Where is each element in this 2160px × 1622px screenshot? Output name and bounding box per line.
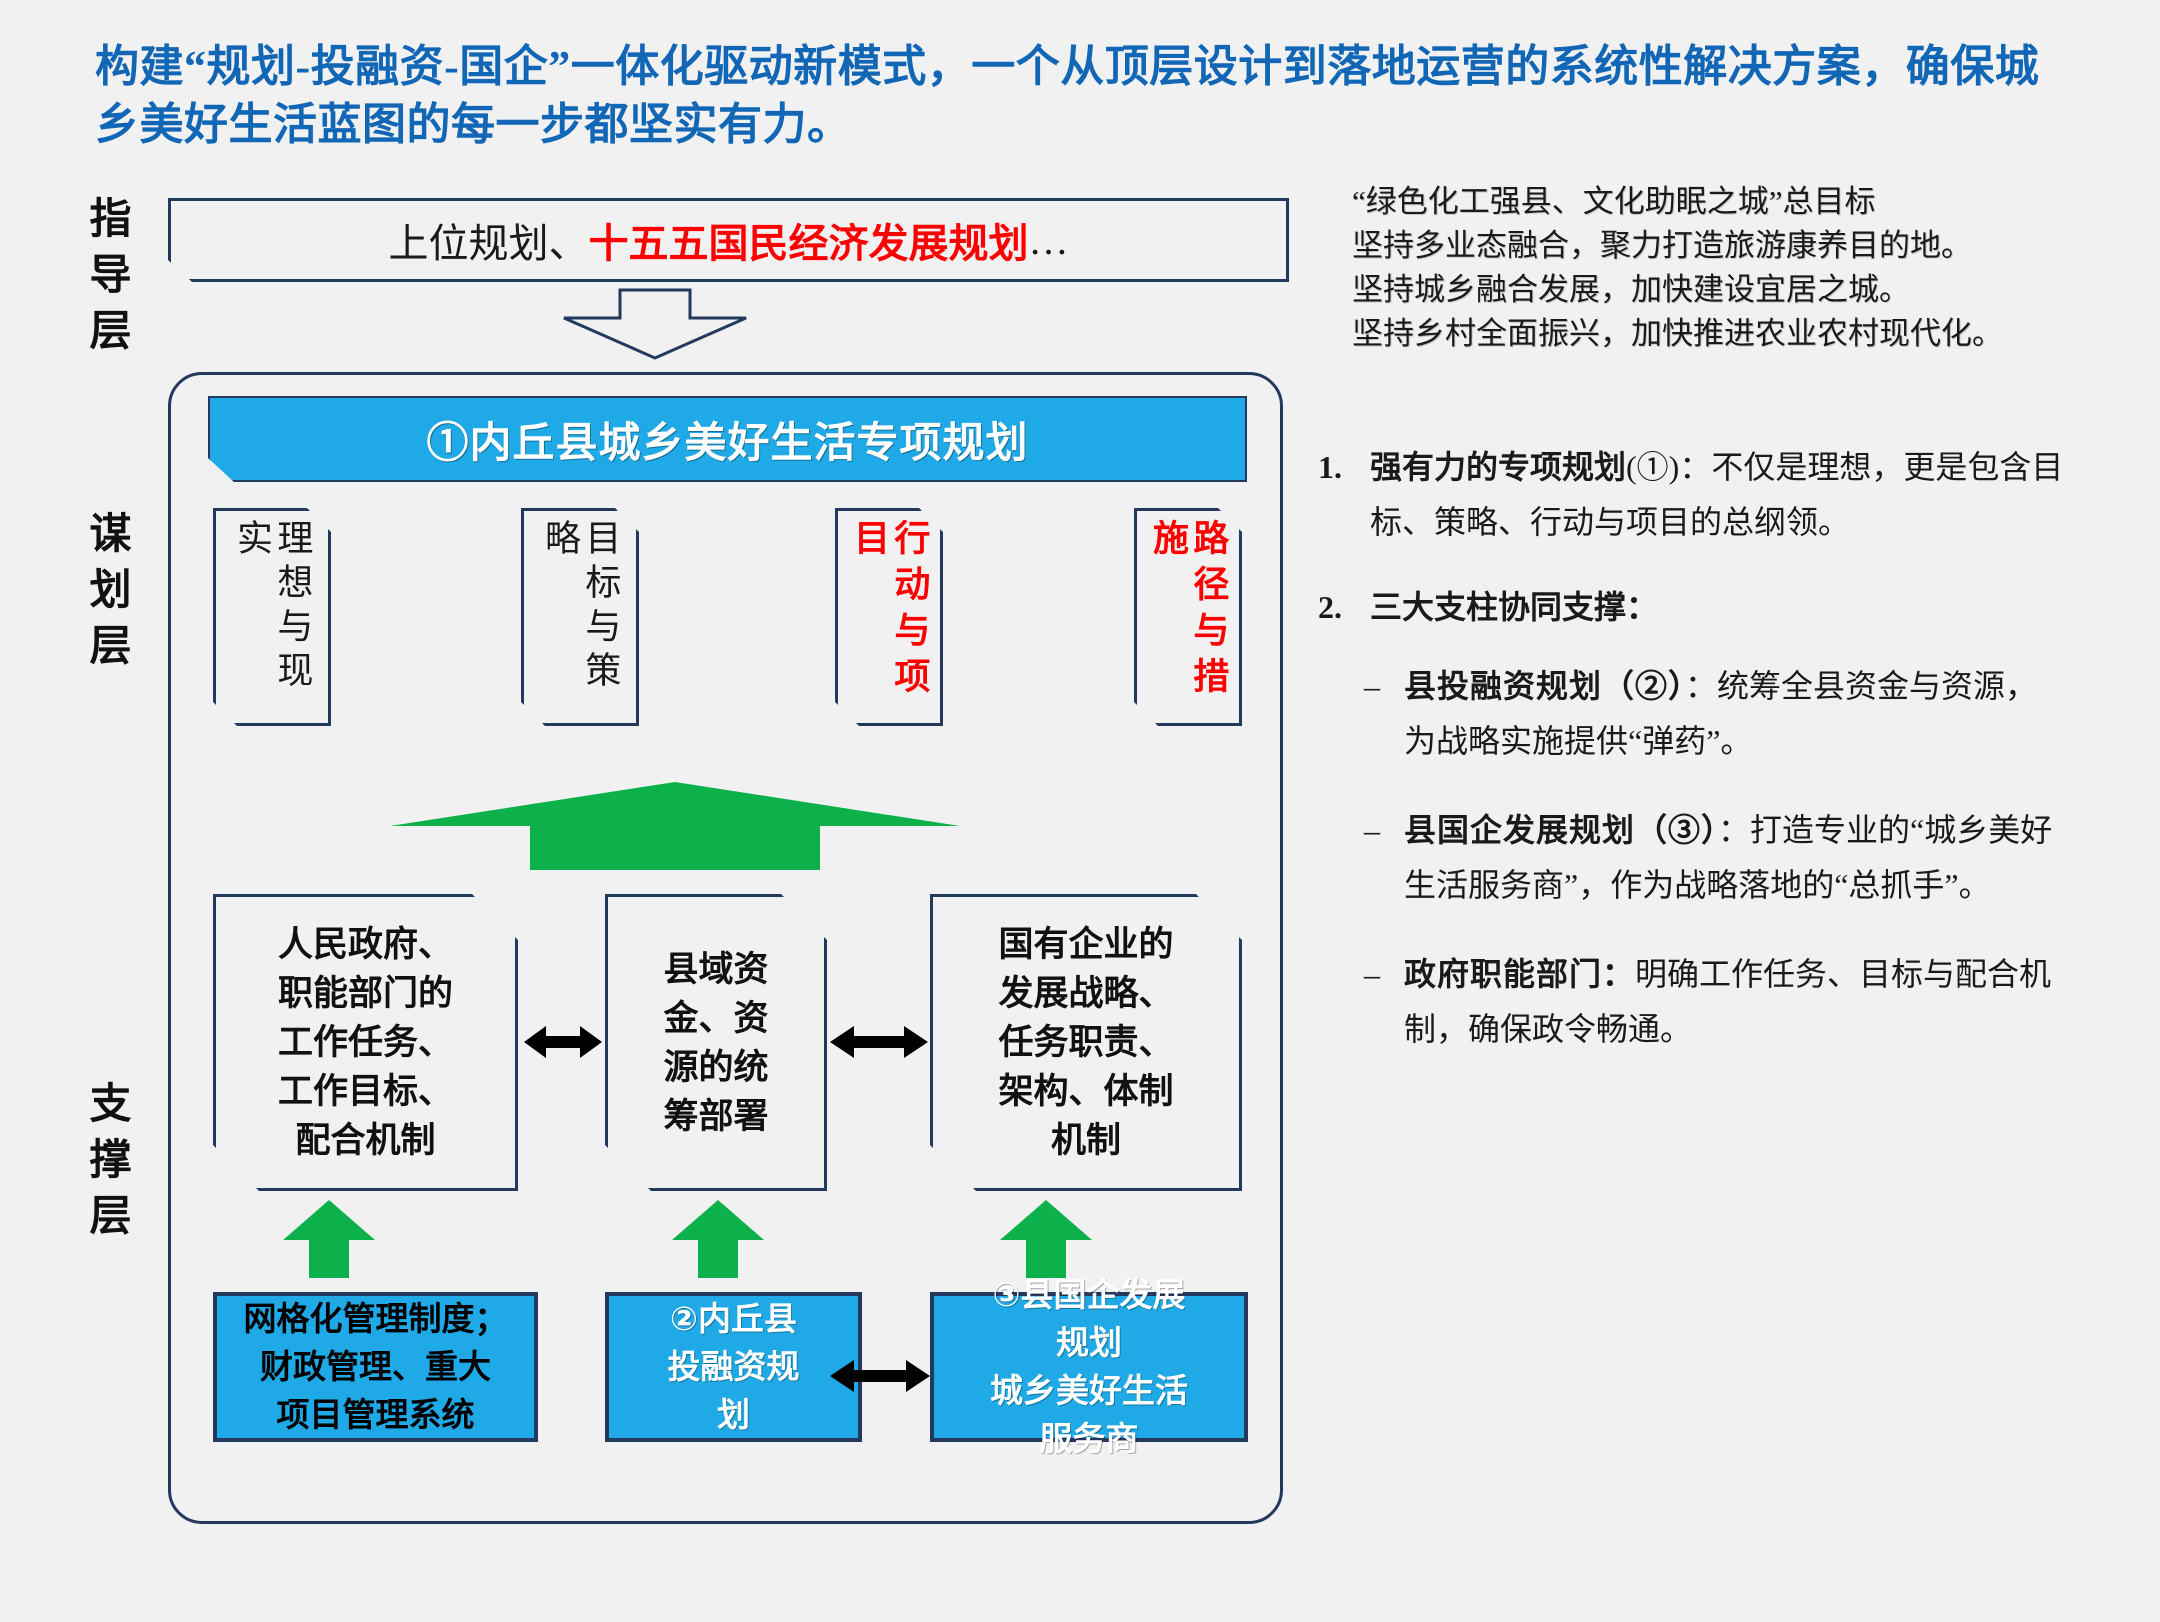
goal-line-0: “绿色化工强县、文化助眠之城”总目标 bbox=[1352, 180, 2092, 224]
bottom-box-soe-plan: ③县国企发展 规划 城乡美好生活 服务商 bbox=[930, 1292, 1248, 1442]
support-text-1: 县域资 金、资 源的统 筹部署 bbox=[663, 945, 768, 1141]
sub-note-dash-1: – bbox=[1364, 659, 1404, 769]
pillar-label-3: 路径与措施 bbox=[1148, 519, 1229, 723]
sub-note-bold-3: 政府职能部门： bbox=[1404, 956, 1635, 992]
goal-line-1: 坚持多业态融合，聚力打造旅游康养目的地。 bbox=[1352, 224, 2092, 268]
page-title: 构建“规划-投融资-国企”一体化驱动新模式，一个从顶层设计到落地运营的系统性解决… bbox=[95, 38, 2075, 154]
upper-plan-prefix: 上位规划、 bbox=[389, 211, 589, 269]
overall-goal-block: “绿色化工强县、文化助眠之城”总目标 坚持多业态融合，聚力打造旅游康养目的地。 … bbox=[1352, 180, 2092, 356]
goal-line-3: 坚持乡村全面振兴，加快推进农业农村现代化。 bbox=[1352, 312, 2092, 356]
support-box-resources: 县域资 金、资 源的统 筹部署 bbox=[605, 894, 827, 1191]
pillar-box-path-measure: 路径与措施 bbox=[1134, 508, 1242, 726]
double-headed-arrow-icon bbox=[830, 1022, 928, 1062]
support-text-0: 人民政府、 职能部门的 工作任务、 工作目标、 配合机制 bbox=[278, 920, 453, 1165]
pillar-label-2: 行动与项目 bbox=[849, 519, 930, 723]
down-arrow-icon bbox=[560, 288, 750, 360]
notes-list: 1. 强有力的专项规划(①)：不仅是理想，更是包含目标、策略、行动与项目的总纲领… bbox=[1318, 440, 2098, 1091]
support-box-government: 人民政府、 职能部门的 工作任务、 工作目标、 配合机制 bbox=[213, 894, 518, 1191]
double-headed-arrow-icon bbox=[830, 1356, 930, 1396]
bottom-box-management-system: 网格化管理制度； 财政管理、重大 项目管理系统 bbox=[213, 1292, 538, 1442]
layer-label-support: 支撑层 bbox=[86, 1080, 128, 1250]
sub-note-body-3: 政府职能部门：明确工作任务、目标与配合机制，确保政令畅通。 bbox=[1404, 947, 2064, 1057]
pillar-label-1: 目标与策略 bbox=[540, 519, 621, 723]
sub-note-body-2: 县国企发展规划（③）：打造专业的“城乡美好生活服务商”，作为战略落地的“总抓手”… bbox=[1404, 803, 2064, 913]
sub-note-item-3: – 政府职能部门：明确工作任务、目标与配合机制，确保政令畅通。 bbox=[1364, 947, 2098, 1057]
sub-note-item-1: – 县投融资规划（②）：统筹全县资金与资源，为战略实施提供“弹药”。 bbox=[1364, 659, 2098, 769]
pillar-box-goal-strategy: 目标与策略 bbox=[521, 508, 639, 726]
note-bold-2: 三大支柱协同支撑： bbox=[1370, 589, 1658, 625]
upper-plan-suffix: … bbox=[1029, 217, 1069, 264]
special-plan-title: ①内丘县城乡美好生活专项规划 bbox=[208, 396, 1247, 482]
layer-label-planning: 谋划层 bbox=[86, 510, 128, 680]
up-arrow-icon bbox=[283, 1200, 375, 1278]
up-arrow-icon bbox=[1000, 1200, 1092, 1278]
sub-note-bold-2: 县国企发展规划（③） bbox=[1404, 812, 1718, 848]
support-text-2: 国有企业的 发展战略、 任务职责、 架构、体制 机制 bbox=[998, 920, 1173, 1165]
layer-label-guidance: 指导层 bbox=[86, 195, 128, 365]
sub-note-body-1: 县投融资规划（②）：统筹全县资金与资源，为战略实施提供“弹药”。 bbox=[1404, 659, 2064, 769]
note-body-1: 强有力的专项规划(①)：不仅是理想，更是包含目标、策略、行动与项目的总纲领。 bbox=[1370, 440, 2098, 550]
sub-note-dash-2: – bbox=[1364, 803, 1404, 913]
sub-note-dash-3: – bbox=[1364, 947, 1404, 1057]
sub-note-bold-1: 县投融资规划（②） bbox=[1404, 668, 1685, 704]
bottom-text-1: ②内丘县 投融资规 划 bbox=[668, 1295, 800, 1439]
pillar-box-action-project: 行动与项目 bbox=[835, 508, 943, 726]
note-bold-1: 强有力的专项规划 bbox=[1370, 449, 1626, 485]
note-number-2: 2. bbox=[1318, 580, 1370, 635]
note-item-1: 1. 强有力的专项规划(①)：不仅是理想，更是包含目标、策略、行动与项目的总纲领… bbox=[1318, 440, 2098, 550]
note-body-2: 三大支柱协同支撑： bbox=[1370, 580, 1658, 635]
up-arrow-icon bbox=[672, 1200, 764, 1278]
pillar-box-ideal-reality: 理想与现实 bbox=[213, 508, 331, 726]
wide-up-arrow-icon bbox=[390, 782, 960, 870]
note-number-1: 1. bbox=[1318, 440, 1370, 550]
sub-note-item-2: – 县国企发展规划（③）：打造专业的“城乡美好生活服务商”，作为战略落地的“总抓… bbox=[1364, 803, 2098, 913]
bottom-text-2: ③县国企发展 规划 城乡美好生活 服务商 bbox=[990, 1271, 1188, 1462]
upper-plan-banner: 上位规划、十五五国民经济发展规划… bbox=[168, 198, 1289, 282]
goal-line-2: 坚持城乡融合发展，加快建设宜居之城。 bbox=[1352, 268, 2092, 312]
bottom-box-investment-plan: ②内丘县 投融资规 划 bbox=[605, 1292, 862, 1442]
support-box-soe: 国有企业的 发展战略、 任务职责、 架构、体制 机制 bbox=[930, 894, 1242, 1191]
bottom-text-0: 网格化管理制度； 财政管理、重大 项目管理系统 bbox=[244, 1295, 508, 1439]
pillar-label-0: 理想与现实 bbox=[232, 519, 313, 723]
double-headed-arrow-icon bbox=[524, 1022, 602, 1062]
note-item-2: 2. 三大支柱协同支撑： bbox=[1318, 580, 2098, 635]
upper-plan-highlight: 十五五国民经济发展规划 bbox=[589, 211, 1029, 269]
